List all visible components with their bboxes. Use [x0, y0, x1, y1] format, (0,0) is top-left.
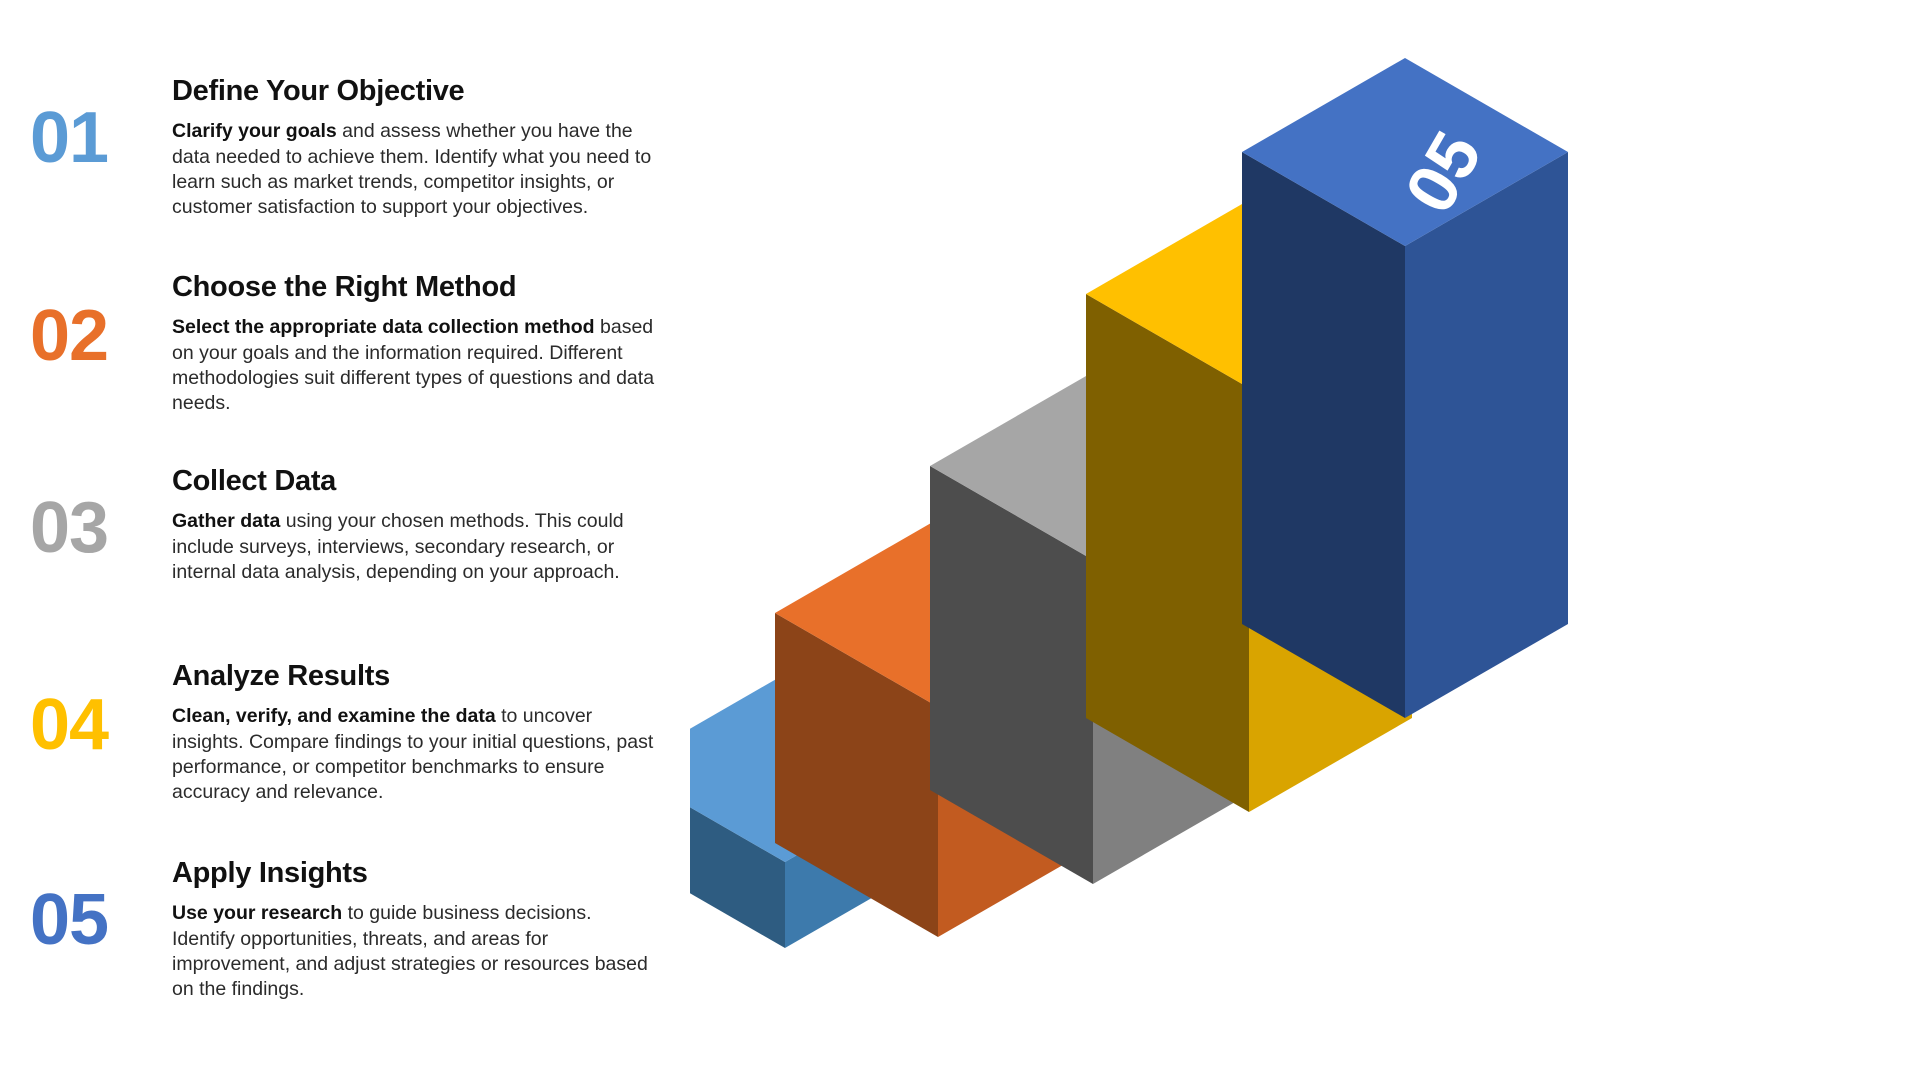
- steps-list: 01 Define Your Objective Clarify your go…: [0, 0, 690, 1080]
- step-number-03: 03: [30, 492, 160, 564]
- stair-block-05-left-face: [1242, 152, 1405, 718]
- step-number-04: 04: [30, 689, 160, 761]
- stair-block-05: 05: [1242, 58, 1568, 718]
- step-text-04: Analyze Results Clean, verify, and exami…: [172, 661, 657, 805]
- stair-block-05-right-face: [1405, 152, 1568, 718]
- infographic-canvas: 01 Define Your Objective Clarify your go…: [0, 0, 1920, 1080]
- step-body-03: Gather data using your chosen methods. T…: [172, 509, 657, 585]
- step-body-02: Select the appropriate data collection m…: [172, 315, 657, 416]
- step-number-05: 05: [30, 884, 160, 956]
- step-text-03: Collect Data Gather data using your chos…: [172, 466, 657, 585]
- step-title-02: Choose the Right Method: [172, 272, 657, 302]
- step-text-01: Define Your Objective Clarify your goals…: [172, 76, 657, 220]
- step-body-lead-03: Gather data: [172, 510, 280, 532]
- step-body-05: Use your research to guide business deci…: [172, 901, 657, 1002]
- isometric-staircase-graphic: 01 02 03 04: [690, 0, 1920, 1080]
- step-text-05: Apply Insights Use your research to guid…: [172, 858, 657, 1002]
- step-body-lead-01: Clarify your goals: [172, 120, 337, 142]
- step-body-lead-04: Clean, verify, and examine the data: [172, 705, 496, 727]
- step-number-02: 02: [30, 300, 160, 372]
- step-body-01: Clarify your goals and assess whether yo…: [172, 119, 657, 220]
- step-body-lead-02: Select the appropriate data collection m…: [172, 316, 595, 338]
- step-title-01: Define Your Objective: [172, 76, 657, 106]
- step-title-03: Collect Data: [172, 466, 657, 496]
- step-text-02: Choose the Right Method Select the appro…: [172, 272, 657, 416]
- step-body-04: Clean, verify, and examine the data to u…: [172, 704, 657, 805]
- step-number-01: 01: [30, 102, 160, 174]
- staircase-svg: 01 02 03 04: [690, 0, 1920, 1080]
- step-body-lead-05: Use your research: [172, 902, 342, 924]
- step-title-05: Apply Insights: [172, 858, 657, 888]
- step-title-04: Analyze Results: [172, 661, 657, 691]
